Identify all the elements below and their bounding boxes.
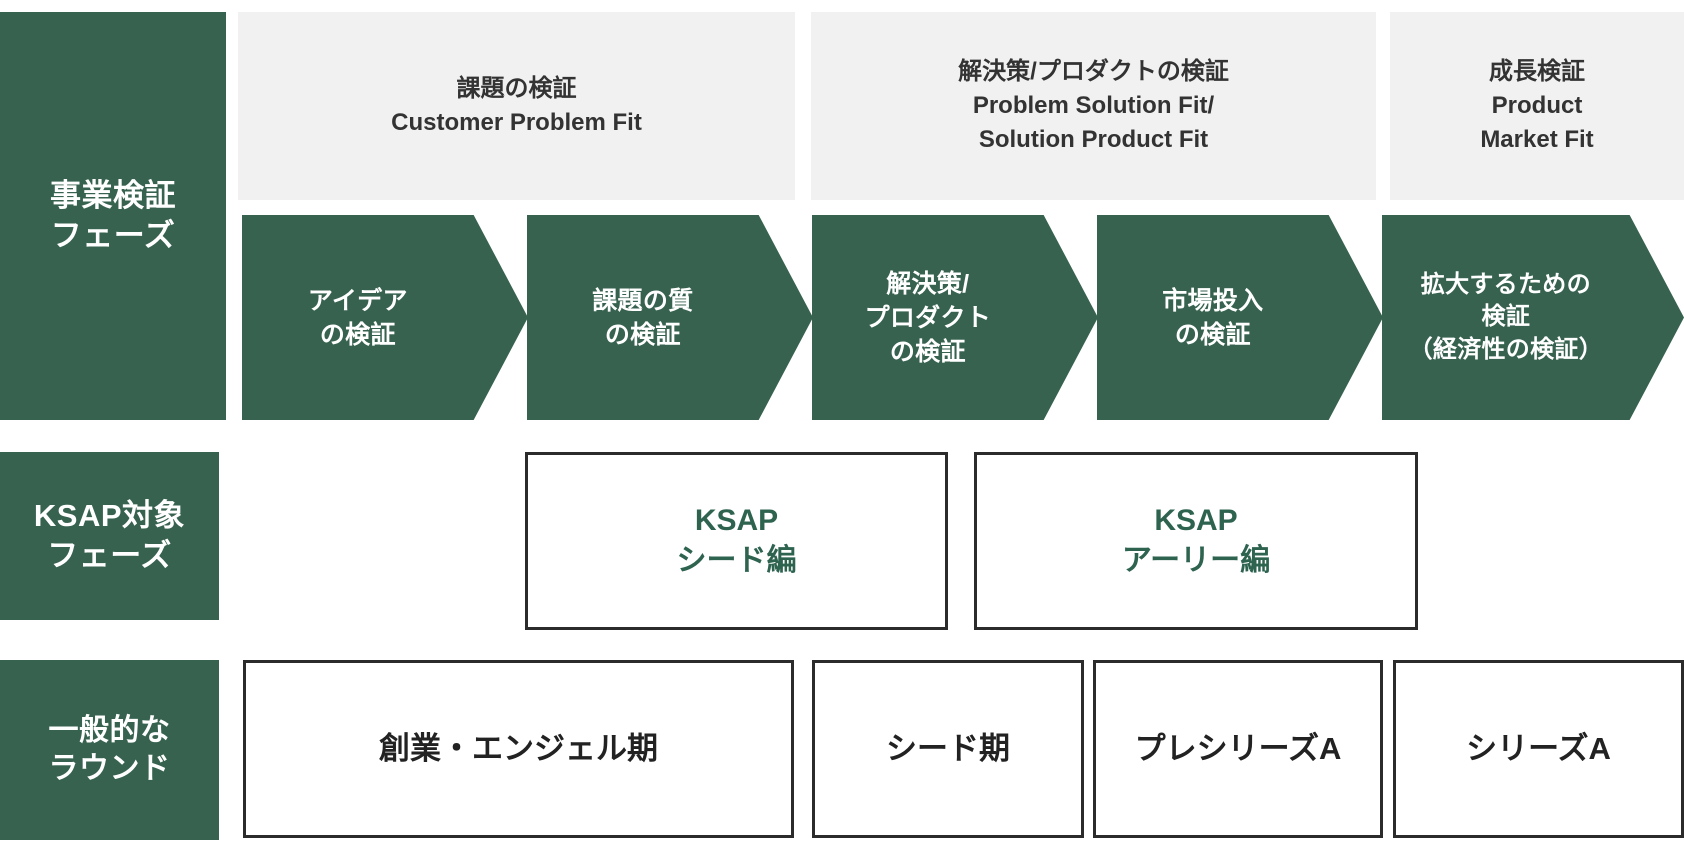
phase-step-3-label: 解決策/ プロダクト の検証 (812, 215, 1044, 420)
phase-step-2-line1: 課題の質 (592, 284, 693, 318)
phase-step-5-line3: （経済性の検証） (1409, 334, 1603, 367)
round-box-series-a[interactable]: シリーズA (1393, 660, 1684, 838)
row-label-round-line2: ラウンド (49, 750, 171, 788)
phase-step-1-line1: アイデア (308, 284, 408, 318)
ksap-box-1-line1: KSAP (695, 501, 778, 541)
row-label-funding-round: 一般的な ラウンド (0, 660, 219, 840)
row-label-ksap-phase: KSAP対象 フェーズ (0, 452, 219, 620)
fit-box-problem-solution-fit: 解決策/プロダクトの検証 Problem Solution Fit/ Solut… (811, 12, 1376, 200)
row-label-ksap-line2: フェーズ (34, 536, 185, 576)
phase-step-5-label: 拡大するための 検証 （経済性の検証） (1382, 215, 1630, 420)
round-box-3-line1: プレシリーズA (1135, 729, 1342, 769)
round-box-pre-series-a[interactable]: プレシリーズA (1093, 660, 1383, 838)
phase-step-3-line2: プロダクト (865, 301, 992, 335)
phase-step-2-line2: の検証 (605, 318, 681, 352)
phase-step-1-label: アイデア の検証 (242, 215, 474, 420)
phase-step-4-line1: 市場投入 (1162, 284, 1263, 318)
ksap-box-1-line2: シード編 (677, 541, 797, 581)
row-label-business-phase-line1: 事業検証 (50, 176, 176, 216)
ksap-box-2-line2: アーリー編 (1122, 541, 1270, 581)
round-box-founding-angel[interactable]: 創業・エンジェル期 (243, 660, 794, 838)
fit-box-customer-problem-fit: 課題の検証 Customer Problem Fit (238, 12, 795, 200)
phase-step-solution-product-validation[interactable]: 解決策/ プロダクト の検証 (812, 215, 1098, 420)
round-box-4-line1: シリーズA (1466, 729, 1611, 769)
fit-box-2-line3: Solution Product Fit (979, 123, 1208, 157)
ksap-box-early[interactable]: KSAP アーリー編 (974, 452, 1418, 630)
fit-box-2-line2: Problem Solution Fit/ (973, 89, 1214, 123)
fit-box-product-market-fit: 成長検証 Product Market Fit (1390, 12, 1684, 200)
phase-step-5-line1: 拡大するための (1421, 269, 1591, 302)
diagram-canvas: 事業検証 フェーズ 課題の検証 Customer Problem Fit 解決策… (0, 0, 1684, 848)
phase-step-4-label: 市場投入 の検証 (1097, 215, 1329, 420)
row-label-round-line1: 一般的な (49, 712, 171, 750)
round-box-2-line1: シード期 (886, 729, 1010, 769)
fit-box-3-line3: Market Fit (1480, 123, 1593, 157)
round-box-1-line1: 創業・エンジェル期 (379, 729, 658, 769)
row-label-ksap-line1: KSAP対象 (34, 496, 185, 536)
phase-step-4-line2: の検証 (1175, 318, 1251, 352)
phase-step-3-line3: の検証 (890, 335, 966, 369)
fit-box-1-line1: 課題の検証 (457, 72, 577, 106)
row-label-business-phase-line2: フェーズ (50, 216, 176, 256)
fit-box-3-line1: 成長検証 (1489, 55, 1585, 89)
phase-step-scaling-validation[interactable]: 拡大するための 検証 （経済性の検証） (1382, 215, 1684, 420)
phase-step-problem-quality-validation[interactable]: 課題の質 の検証 (527, 215, 813, 420)
ksap-box-seed[interactable]: KSAP シード編 (525, 452, 948, 630)
ksap-box-2-line1: KSAP (1154, 501, 1237, 541)
phase-step-5-line2: 検証 (1482, 301, 1531, 334)
phase-step-2-label: 課題の質 の検証 (527, 215, 759, 420)
phase-step-1-line2: の検証 (320, 318, 396, 352)
row-label-business-phase: 事業検証 フェーズ (0, 12, 226, 420)
phase-step-idea-validation[interactable]: アイデア の検証 (242, 215, 528, 420)
fit-box-2-line1: 解決策/プロダクトの検証 (958, 55, 1229, 89)
phase-step-3-line1: 解決策/ (886, 267, 969, 301)
round-box-seed[interactable]: シード期 (812, 660, 1084, 838)
phase-step-market-launch-validation[interactable]: 市場投入 の検証 (1097, 215, 1383, 420)
fit-box-3-line2: Product (1492, 89, 1583, 123)
fit-box-1-line2: Customer Problem Fit (391, 106, 642, 140)
